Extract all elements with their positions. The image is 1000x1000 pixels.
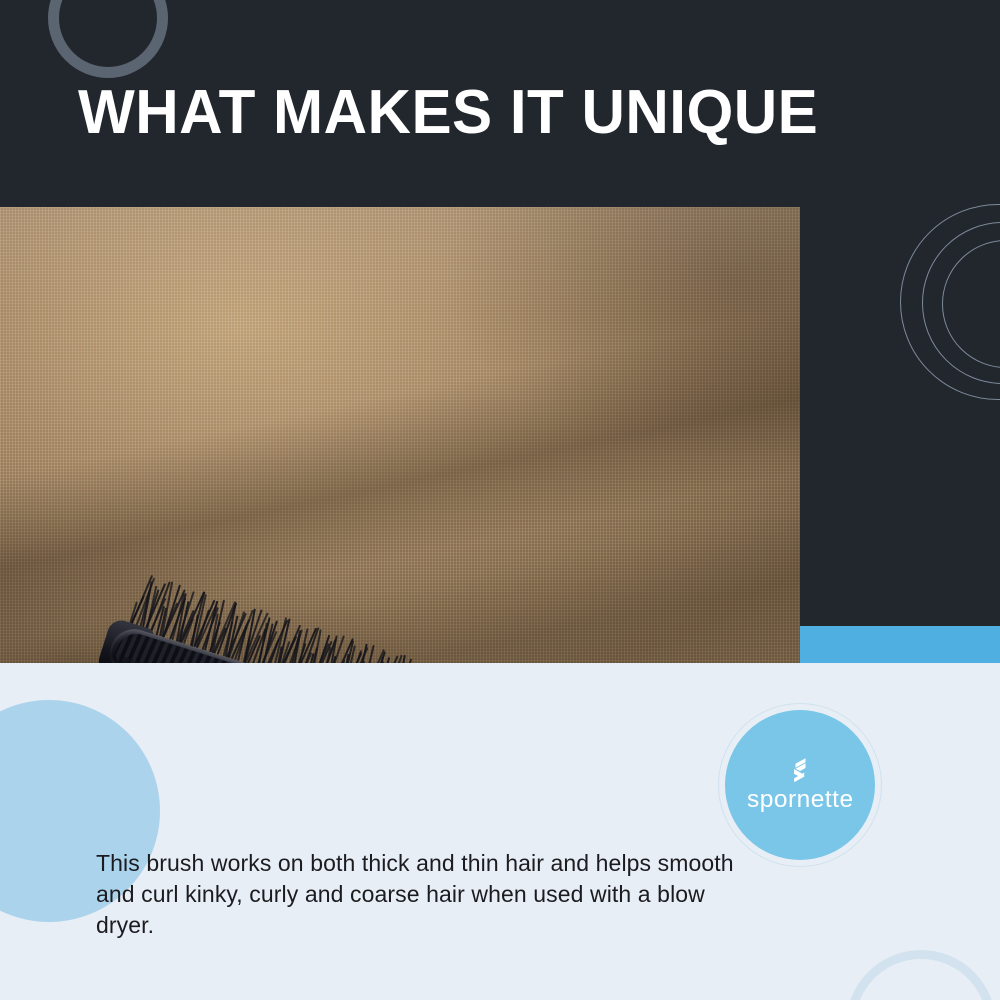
page-title: WHAT MAKES IT UNIQUE xyxy=(78,78,818,148)
description-paragraph: This brush works on both thick and thin … xyxy=(96,848,756,941)
brand-wordmark: spornette xyxy=(747,786,854,814)
brand-badge: spornette xyxy=(725,710,875,860)
poster-canvas: WHAT MAKES IT UNIQUE spornette 984-XL xyxy=(0,0,1000,1000)
spornette-s-logo-icon xyxy=(789,757,811,783)
accent-bar xyxy=(800,626,1000,663)
ring-decoration-top-left-icon xyxy=(48,0,168,78)
